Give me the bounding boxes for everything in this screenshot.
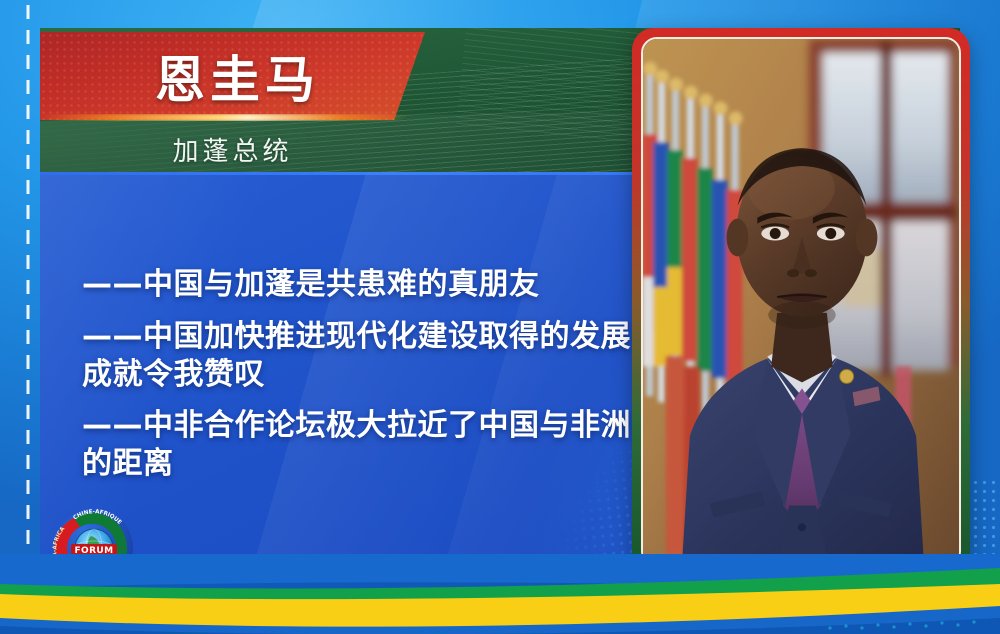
portrait-photo: [641, 37, 961, 567]
person-title: 加蓬总统: [40, 126, 425, 172]
quote-line: ——中国与加蓬是共患难的真朋友: [82, 266, 642, 304]
news-graphic-stage: 恩圭马 加蓬总统 ——中国与加蓬是共患难的真朋友 ——中国加快推进现代化建设取得…: [0, 0, 1000, 634]
portrait-frame: [632, 28, 970, 576]
person-name: 恩圭马: [40, 32, 425, 120]
quote-line: ——中非合作论坛极大拉近了中国与非洲的距离: [82, 407, 642, 483]
quote-line: ——中国加快推进现代化建设取得的发展成就令我赞叹: [82, 318, 642, 394]
bottom-ribbon: [0, 554, 1000, 634]
quote-list: ——中国与加蓬是共患难的真朋友 ——中国加快推进现代化建设取得的发展成就令我赞叹…: [82, 266, 642, 483]
